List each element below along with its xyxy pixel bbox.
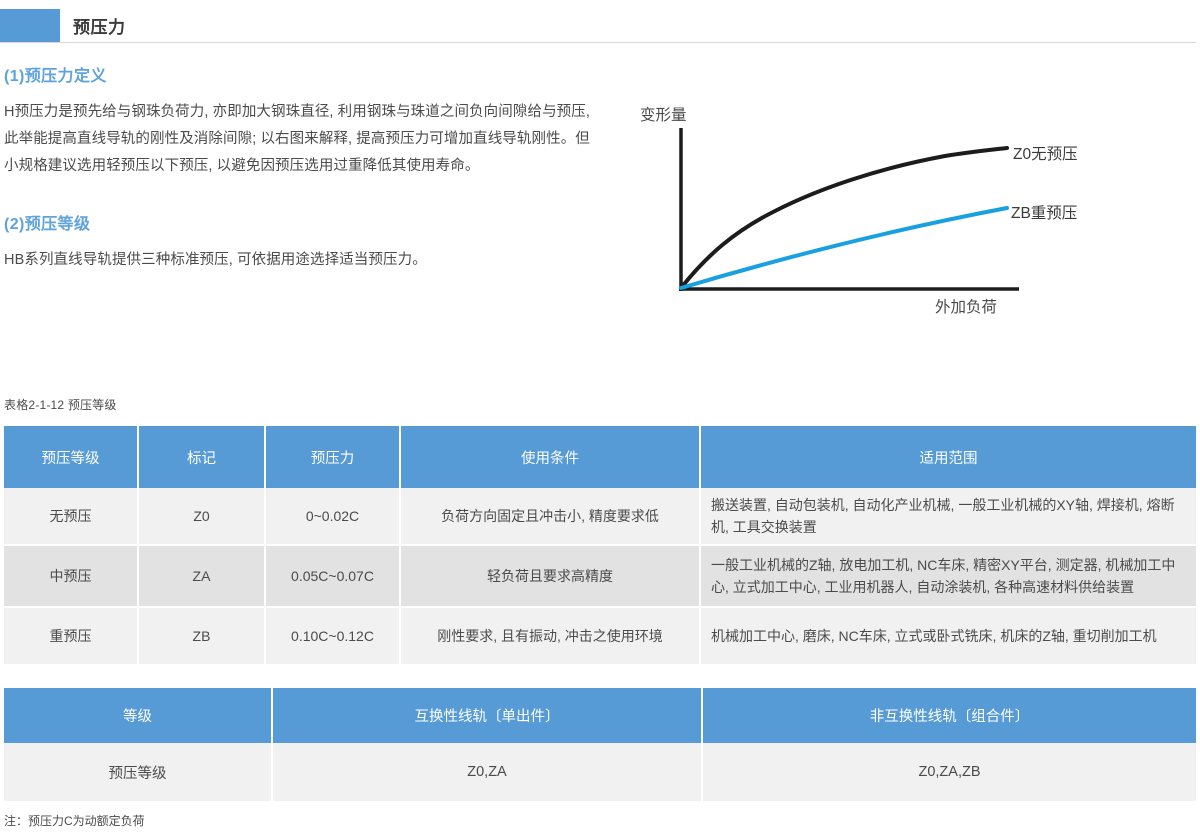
table1-header-scope: 适用范围 [700, 426, 1196, 488]
chart-curve-zb [681, 208, 1007, 288]
table1-header-force: 预压力 [265, 426, 400, 488]
cell-scope: 一般工业机械的Z轴, 放电加工机, NC车床, 精密XY平台, 测定器, 机械加… [700, 545, 1196, 607]
table1-caption: 表格2-1-12 预压等级 [4, 396, 117, 413]
cell-level: 重预压 [4, 607, 138, 664]
table-row: 无预压 Z0 0~0.02C 负荷方向固定且冲击小, 精度要求低 搬送装置, 自… [4, 488, 1196, 545]
cell-mark: Z0 [138, 488, 265, 545]
section-paragraph-definition: H预压力是预先给与钢珠负荷力, 亦即加大钢珠直径, 利用钢珠与珠道之间负向间隙给… [4, 99, 604, 180]
table2-header-row: 等级 互换性线轨〔单出件〕 非互换性线轨〔组合件〕 [4, 688, 1196, 743]
table-row: 重预压 ZB 0.10C~0.12C 刚性要求, 且有振动, 冲击之使用环境 机… [4, 607, 1196, 664]
table-row: 预压等级 Z0,ZA Z0,ZA,ZB [4, 743, 1196, 801]
left-text-column: (1)预压力定义 H预压力是预先给与钢珠负荷力, 亦即加大钢珠直径, 利用钢珠与… [4, 62, 604, 274]
chart-plot-area [615, 95, 1200, 335]
cell-mark: ZB [138, 607, 265, 664]
section-paragraph-grades: HB系列直线导轨提供三种标准预压, 可依据用途选择适当预压力。 [4, 247, 604, 274]
cell-condition: 轻负荷且要求高精度 [400, 545, 700, 607]
chart-series-label-z0: Z0无预压 [1013, 142, 1078, 164]
cell-condition: 刚性要求, 且有振动, 冲击之使用环境 [400, 607, 700, 664]
section-heading-grades: (2)预压等级 [4, 210, 604, 234]
cell-force: 0.05C~0.07C [265, 545, 400, 607]
chart-y-axis-label: 变形量 [640, 103, 687, 125]
preload-deformation-chart: 变形量 外加负荷 Z0无预压 ZB重预压 [615, 95, 1200, 335]
table1-header-condition: 使用条件 [400, 426, 700, 488]
table1-header-level: 预压等级 [4, 426, 138, 488]
header-accent-block [0, 9, 60, 42]
table1-header-mark: 标记 [138, 426, 265, 488]
cell-level: 无预压 [4, 488, 138, 545]
chart-series-label-zb: ZB重预压 [1011, 201, 1077, 223]
cell-condition: 负荷方向固定且冲击小, 精度要求低 [400, 488, 700, 545]
cell-scope: 搬送装置, 自动包装机, 自动化产业机械, 一般工业机械的XY轴, 焊接机, 熔… [700, 488, 1196, 545]
cell-level: 中预压 [4, 545, 138, 607]
preload-grade-table: 预压等级 标记 预压力 使用条件 适用范围 无预压 Z0 0~0.02C 负荷方… [4, 426, 1196, 664]
table-row: 中预压 ZA 0.05C~0.07C 轻负荷且要求高精度 一般工业机械的Z轴, … [4, 545, 1196, 607]
cell-force: 0~0.02C [265, 488, 400, 545]
chart-x-axis-label: 外加负荷 [935, 295, 997, 317]
table2-header-non-interchangeable: 非互换性线轨〔组合件〕 [702, 688, 1196, 743]
cell-mark: ZA [138, 545, 265, 607]
page-title: 预压力 [65, 9, 1196, 42]
cell-interchangeable: Z0,ZA [272, 743, 702, 801]
section-heading-definition: (1)预压力定义 [4, 62, 604, 86]
cell-force: 0.10C~0.12C [265, 607, 400, 664]
cell-scope: 机械加工中心, 磨床, NC车床, 立式或卧式铣床, 机床的Z轴, 重切削加工机 [700, 607, 1196, 664]
table-footnote: 注：预压力C为动额定负荷 [4, 812, 145, 829]
cell-non-interchangeable: Z0,ZA,ZB [702, 743, 1196, 801]
cell-grade: 预压等级 [4, 743, 272, 801]
rail-grade-table: 等级 互换性线轨〔单出件〕 非互换性线轨〔组合件〕 预压等级 Z0,ZA Z0,… [4, 688, 1196, 801]
table1-header-row: 预压等级 标记 预压力 使用条件 适用范围 [4, 426, 1196, 488]
page-header: 预压力 [0, 9, 1196, 43]
table2-header-grade: 等级 [4, 688, 272, 743]
table2-header-interchangeable: 互换性线轨〔单出件〕 [272, 688, 702, 743]
